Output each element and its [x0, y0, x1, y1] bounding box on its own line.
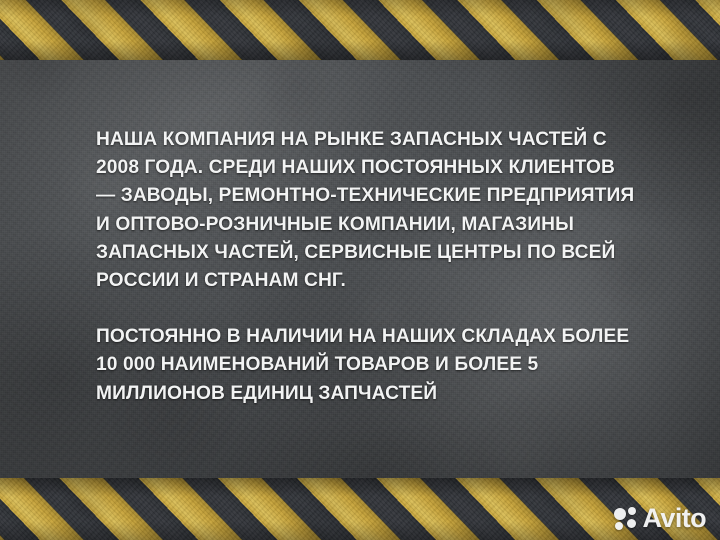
- hazard-stripe-band-top: [0, 0, 720, 60]
- avito-wordmark: Avito: [643, 505, 707, 532]
- promo-text-block: НАША КОМПАНИЯ НА РЫНКЕ ЗАПАСНЫХ ЧАСТЕЙ С…: [96, 126, 636, 408]
- avito-dots-icon: [614, 507, 638, 531]
- promo-paragraph-stock-figures: ПОСТОЯННО В НАЛИЧИИ НА НАШИХ СКЛАДАХ БОЛ…: [96, 323, 636, 408]
- hazard-stripe-band-bottom: [0, 478, 720, 540]
- hazard-shading-bottom: [0, 478, 720, 540]
- avito-watermark: Avito: [614, 505, 707, 532]
- hazard-shading-top: [0, 0, 720, 60]
- advertisement-banner: НАША КОМПАНИЯ НА РЫНКЕ ЗАПАСНЫХ ЧАСТЕЙ С…: [0, 0, 720, 540]
- promo-paragraph-company-history: НАША КОМПАНИЯ НА РЫНКЕ ЗАПАСНЫХ ЧАСТЕЙ С…: [96, 126, 636, 295]
